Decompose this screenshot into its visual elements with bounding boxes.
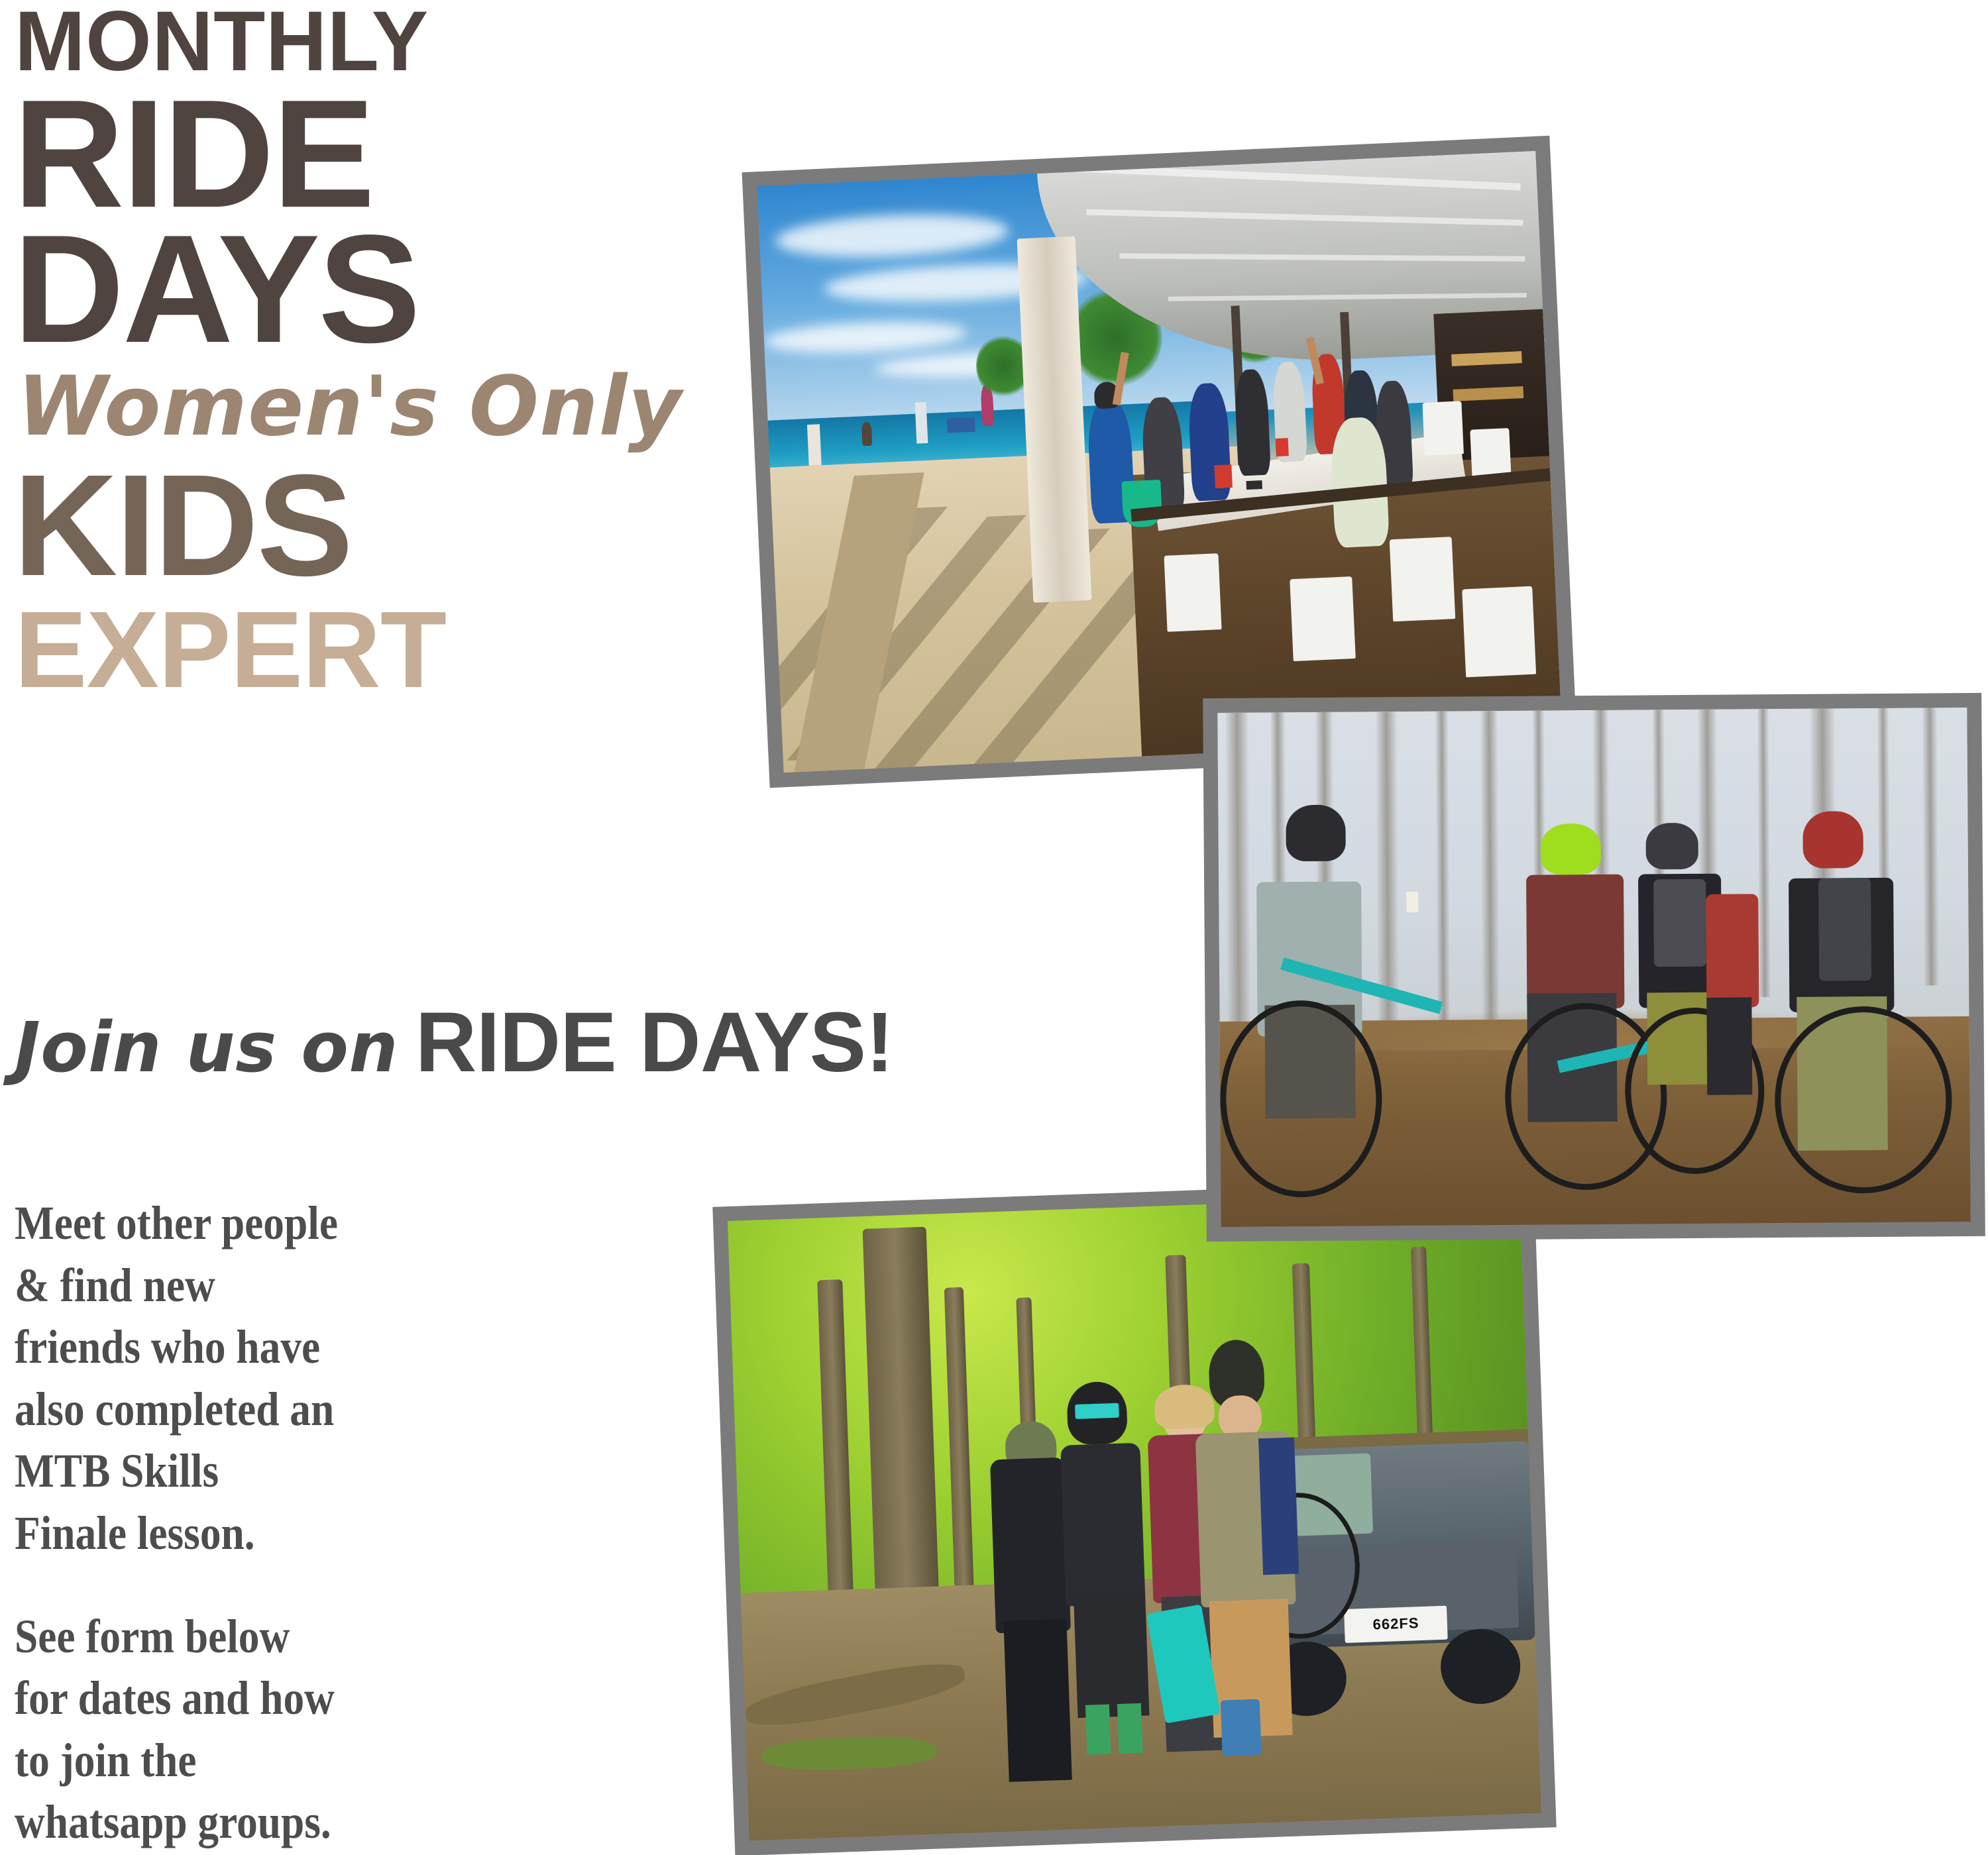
back-protector xyxy=(1818,878,1871,981)
photo-beach-image xyxy=(757,151,1563,772)
photo-beach-restaurant xyxy=(742,136,1578,788)
table-item xyxy=(1246,480,1262,489)
license-plate-text: 662FS xyxy=(1344,1605,1448,1643)
rider-red-jacket xyxy=(1706,894,1759,1008)
green-full-face-helmet xyxy=(1541,823,1601,875)
join-heading-script: Join us on xyxy=(15,1007,398,1088)
person-shorts xyxy=(1074,1591,1149,1718)
tree-trunk xyxy=(1375,712,1400,1030)
person-rider-jacket xyxy=(1061,1442,1146,1606)
plastic-chair xyxy=(1462,586,1536,677)
join-heading-bold: RIDE DAYS! xyxy=(415,995,893,1090)
hero-heading: MONTHLY RIDE DAYS Women's Only KIDS EXPE… xyxy=(12,0,608,706)
goggles xyxy=(1075,1403,1119,1420)
hero-line-kids: KIDS xyxy=(13,457,608,594)
plastic-chair xyxy=(1290,576,1356,661)
mountain-bike xyxy=(1774,1006,1952,1194)
beach-umbrella xyxy=(915,402,928,444)
helmet xyxy=(1645,823,1698,869)
person-black-jacket xyxy=(990,1457,1072,1634)
knee-pad xyxy=(1220,1699,1262,1756)
mountain-bike xyxy=(1219,1000,1382,1198)
beach-lounger xyxy=(947,417,975,433)
poster-root: MONTHLY RIDE DAYS Women's Only KIDS EXPE… xyxy=(0,0,1988,1855)
tree-trunk xyxy=(1757,709,1771,997)
tree-trunk xyxy=(1922,708,1939,985)
rider-legs xyxy=(1706,997,1752,1095)
plastic-chair xyxy=(1422,401,1463,455)
photo-forest-group-image: 662FS xyxy=(728,1193,1541,1840)
hero-line-ride: RIDE xyxy=(13,87,608,222)
tree-trunk xyxy=(1480,711,1500,1020)
sock xyxy=(1117,1703,1142,1754)
body-paragraph-2: See form below for dates and how to join… xyxy=(15,1606,341,1854)
plastic-chair xyxy=(1164,553,1221,632)
blue-jersey-sleeve xyxy=(1258,1437,1299,1575)
photo-misty-forest-image xyxy=(1217,708,1970,1227)
hero-line-expert: EXPERT xyxy=(15,594,608,705)
photo-misty-forest xyxy=(1203,693,1985,1242)
table-item xyxy=(1276,439,1289,456)
license-plate: 662FS xyxy=(1344,1605,1448,1643)
photo-forest-group: 662FS xyxy=(712,1179,1556,1855)
beach-umbrella xyxy=(807,424,822,466)
backpack xyxy=(1653,879,1706,967)
rider-patterned-jersey xyxy=(1526,874,1624,1009)
tree-trunk xyxy=(1435,712,1451,1030)
hair xyxy=(1154,1384,1215,1430)
body-paragraph-1: Meet other people & find new friends who… xyxy=(15,1192,341,1565)
join-heading: Join us onRIDE DAYS! xyxy=(15,994,677,1091)
trail-marker xyxy=(1406,891,1418,912)
hero-line-days: DAYS xyxy=(13,222,608,357)
hero-line-womens-only: Women's Only xyxy=(17,357,608,457)
table-item xyxy=(1215,464,1233,489)
person-pants xyxy=(1003,1618,1072,1782)
sock xyxy=(1085,1704,1111,1754)
red-full-face-helmet xyxy=(1803,811,1863,868)
plastic-chair xyxy=(1390,537,1456,621)
body-copy: Meet other people & find new friends who… xyxy=(15,1192,341,1855)
full-face-helmet xyxy=(1286,804,1346,861)
